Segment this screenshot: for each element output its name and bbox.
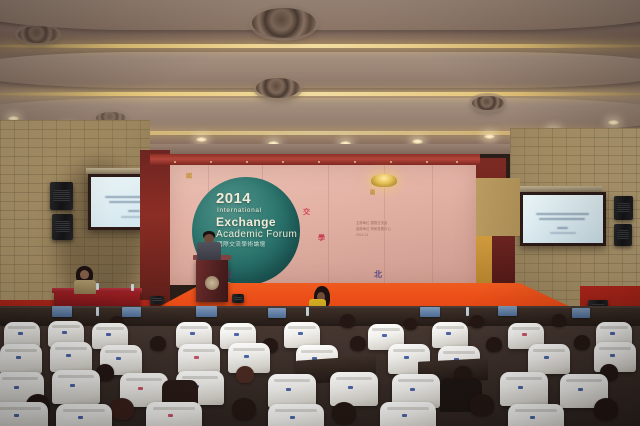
chair [268,404,324,426]
recessed-downlight [484,134,495,139]
ceiling-panel-2 [0,52,640,88]
chair [0,402,48,426]
laptop [52,306,72,317]
water-bottle [96,307,99,316]
attendee-head [470,394,494,416]
wall-mounted-loudspeaker [50,182,73,210]
laptop [420,307,440,317]
wall-mounted-loudspeaker [614,196,633,220]
cove-light-strip-1 [0,44,640,48]
banner-mark-low: 學 [318,233,325,243]
chair [500,372,548,406]
attendee-head [150,336,166,351]
banner-year: 2014 [216,191,251,206]
banner-chinese: 國際交流學術論壇 [217,243,266,249]
attendee-head [404,318,417,330]
speaker-podium [196,258,228,302]
chair [528,344,570,374]
banner-mark-top: 國 [186,171,192,180]
banner-meta-1: 主辦單位 國際交流處 [356,221,388,226]
chair [380,402,436,426]
right-projection-screen [520,192,606,246]
right-screen-surface [523,195,603,243]
laptop [498,306,517,316]
attendee-head [236,366,254,383]
wall-mounted-loudspeaker [614,224,632,246]
banner-mark-right: 國 [370,189,375,196]
banner-exchange: Exchange [216,216,276,228]
ceiling-air-vent [18,26,58,43]
stage-header-rail [150,154,480,165]
chair [508,404,564,426]
chair [146,402,202,426]
ceiling-air-vent [252,8,316,38]
attendee-head [110,398,134,420]
banner-international: International [217,208,262,215]
auditorium-photo: 2014 International Exchange Academic For… [0,0,640,426]
recessed-downlight [196,137,207,142]
water-bottle [131,284,134,291]
attendee-head [574,335,590,350]
chair [50,342,92,372]
banner-meta-3: 2014.11 [356,233,369,238]
attendee-head [332,402,356,424]
audience-seating [0,306,640,426]
banner-academic: Academic Forum [216,230,297,240]
laptop [572,308,590,318]
ceiling-air-vent [256,78,300,98]
banner-logo-right: 北 [374,269,382,280]
recessed-downlight [608,120,619,125]
speaker-at-podium [196,231,222,261]
laptop [268,308,286,318]
attendee-head [552,314,566,327]
laptop [122,307,141,317]
attendee-head [232,398,256,420]
water-bottle [466,307,469,316]
chair [268,374,316,408]
chair [0,344,42,374]
water-bottle [96,283,99,290]
institution-seal [205,276,219,290]
ceiling-air-vent [472,96,504,110]
attendee-head [594,398,618,420]
floor-monitor [232,294,244,303]
chair [56,404,112,426]
laptop [196,306,217,317]
seated-panelist [72,266,98,292]
chair [330,372,378,406]
attendee-head [470,315,484,328]
gold-wall-sconce [371,174,397,187]
chair [178,344,220,374]
chair [432,322,468,348]
chair [52,370,100,404]
water-bottle [306,307,309,316]
banner-mark-mid: 交 [303,207,310,217]
wall-mounted-loudspeaker [52,214,73,240]
attendee-head [350,336,366,351]
attendee-head [486,337,502,352]
banner-meta-2: 協辦單位 學術發展中心 [356,227,391,232]
attendee-head [340,314,355,328]
ceiling-panel-1 [0,0,640,30]
cove-light-strip-2 [0,92,640,96]
floor-monitor [150,296,164,304]
stage-left-column [140,150,170,310]
